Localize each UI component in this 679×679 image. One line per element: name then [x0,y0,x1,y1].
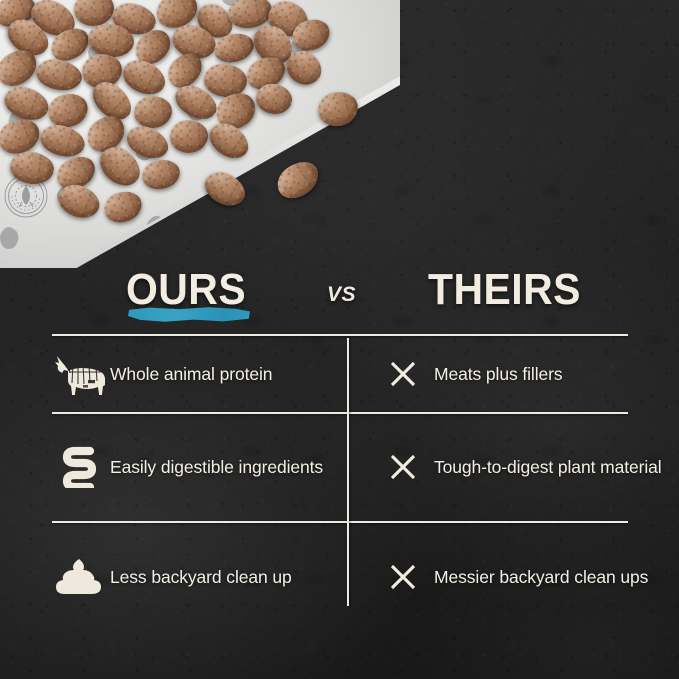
comparison-infographic: OURS VS THEIRS [0,0,679,679]
table-row: Whole animal protein [48,348,338,400]
row-label: Easily digestible ingredients [110,456,323,478]
kibble-on-butcher-paper-photo [0,0,400,268]
row-label: Meats plus fillers [434,363,563,385]
x-mark-icon [372,359,434,389]
intestine-icon [48,446,110,488]
x-mark-icon [372,562,434,592]
x-mark-icon-svg [388,562,418,592]
x-mark-icon [372,452,434,482]
versus-label: VS [327,283,356,307]
row-label: Messier backyard clean ups [434,566,648,588]
ours-underline-brushstroke [128,307,250,322]
x-mark-icon-svg [388,359,418,389]
x-mark-icon-svg [388,452,418,482]
ours-heading: OURS [126,268,246,312]
cow-butcher-cuts-icon-svg [52,353,106,395]
theirs-heading: THEIRS [428,268,581,312]
kibble-pellet-icon [271,154,325,205]
table-row: Meats plus fillers [372,348,662,400]
table-row: Messier backyard clean ups [372,546,662,608]
cow-butcher-cuts-icon [48,353,110,395]
poop-icon [48,556,110,598]
poop-icon-svg [56,556,102,598]
row-label: Tough-to-digest plant material [434,456,662,478]
table-row: Easily digestible ingredients [48,436,338,498]
row-label: Less backyard clean up [110,566,292,588]
table-row: Tough-to-digest plant material [372,436,662,498]
table-row: Less backyard clean up [48,546,338,608]
row-label: Whole animal protein [110,363,272,385]
intestine-icon-svg [57,446,101,488]
